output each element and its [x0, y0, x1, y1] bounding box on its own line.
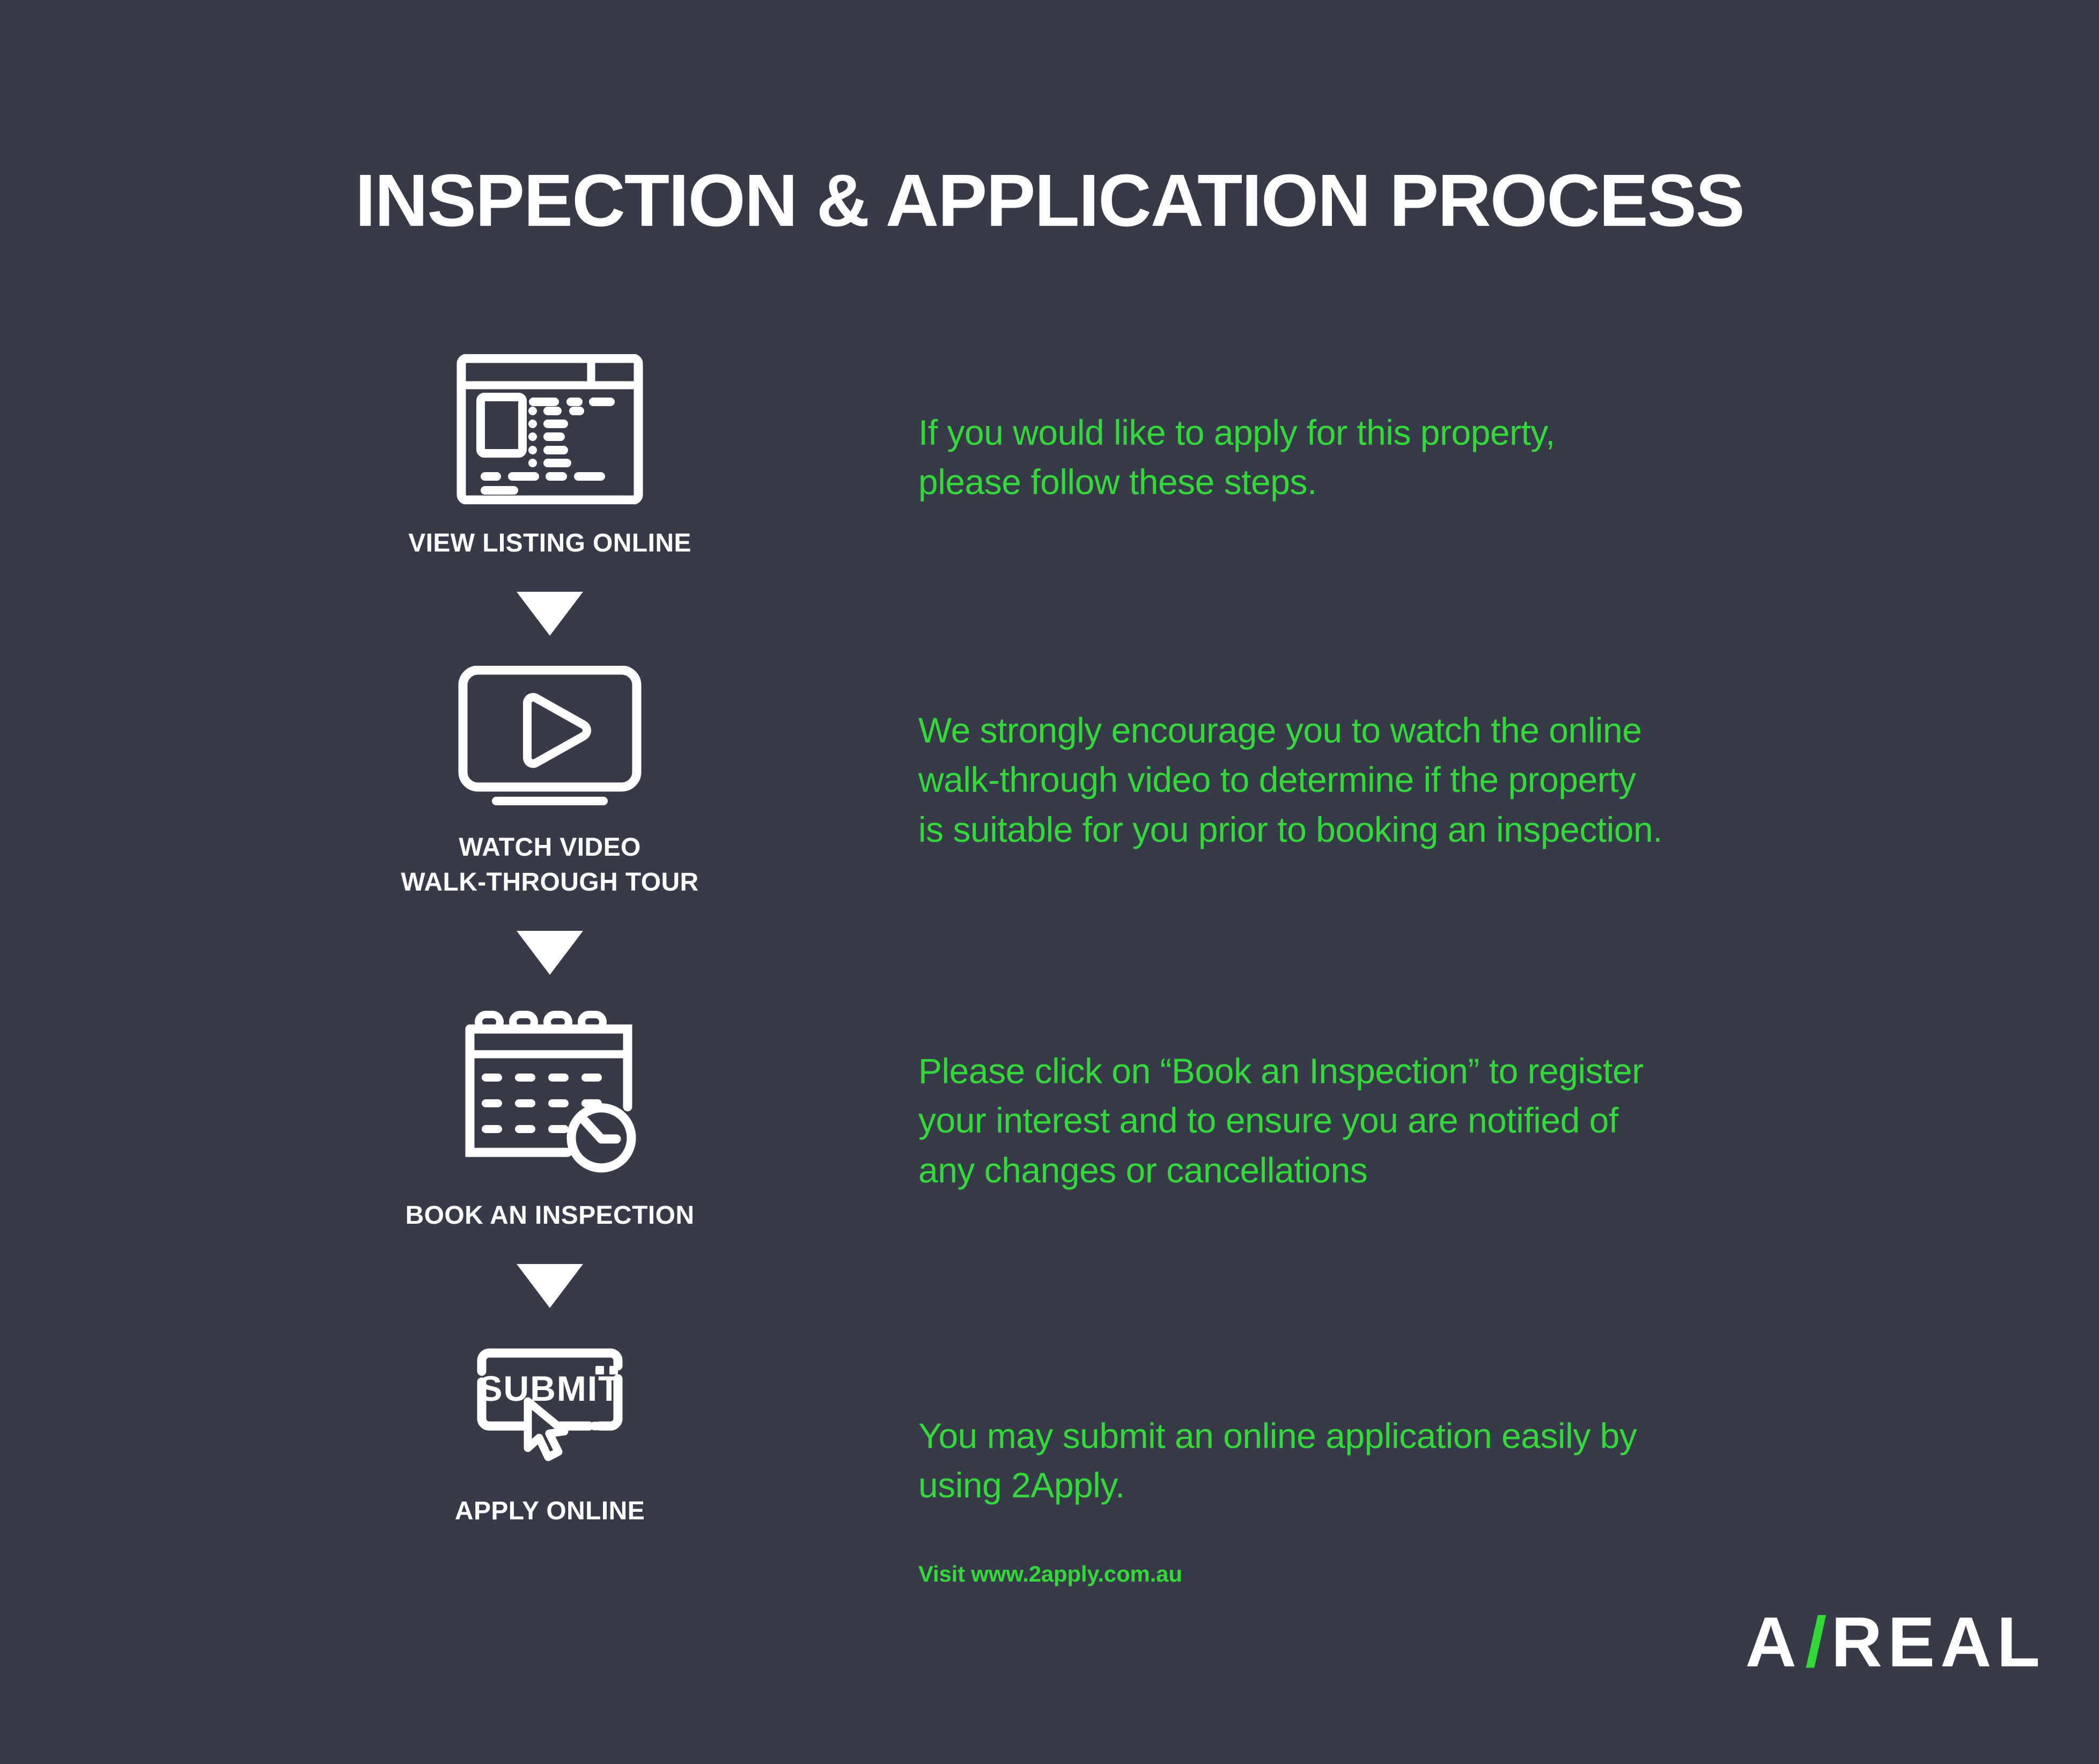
- triangle-down-icon: [517, 931, 583, 975]
- paragraph-book-inspection: Please click on “Book an Inspection” to …: [918, 1046, 1964, 1195]
- paragraph-apply-online: You may submit an online application eas…: [918, 1411, 1964, 1510]
- triangle-down-icon: [517, 1264, 583, 1308]
- connector-1: [333, 592, 767, 636]
- process-flow-column: VIEW LISTING ONLINE WATCH VIDEO WALK-THR…: [333, 354, 767, 1529]
- logo-letter-a: A: [1746, 1607, 1799, 1678]
- calendar-clock-icon: [456, 1005, 644, 1179]
- submit-button-icon: SUBMIT: [456, 1338, 644, 1475]
- svg-text:SUBMIT: SUBMIT: [479, 1369, 621, 1408]
- page-title: INSPECTION & APPLICATION PROCESS: [0, 158, 2099, 244]
- step-label-watch-video: WATCH VIDEO WALK-THROUGH TOUR: [401, 830, 698, 900]
- step-label-apply-online: APPLY ONLINE: [455, 1494, 645, 1528]
- step-view-listing-online: VIEW LISTING ONLINE: [333, 354, 767, 561]
- connector-3: [333, 1264, 767, 1308]
- step-apply-online: SUBMIT APPLY ONLINE: [333, 1338, 767, 1528]
- paragraph-watch-video: We strongly encourage you to watch the o…: [918, 705, 1964, 854]
- listing-window-icon: [456, 354, 644, 507]
- step-label-book-inspection: BOOK AN INSPECTION: [406, 1199, 695, 1233]
- logo-word-real: REAL: [1831, 1607, 2045, 1678]
- paragraph-apply-intro: If you would like to apply for this prop…: [918, 408, 1964, 507]
- brand-logo: A / REAL: [1746, 1607, 2045, 1678]
- step-label-view-listing-online: VIEW LISTING ONLINE: [408, 526, 691, 561]
- step-watch-video: WATCH VIDEO WALK-THROUGH TOUR: [333, 666, 767, 900]
- triangle-down-icon: [517, 592, 583, 636]
- connector-2: [333, 931, 767, 975]
- logo-slash-icon: /: [1805, 1607, 1829, 1678]
- visit-2apply-link[interactable]: Visit www.2apply.com.au: [918, 1561, 1182, 1587]
- video-play-icon: [456, 666, 644, 811]
- step-book-inspection: BOOK AN INSPECTION: [333, 1005, 767, 1233]
